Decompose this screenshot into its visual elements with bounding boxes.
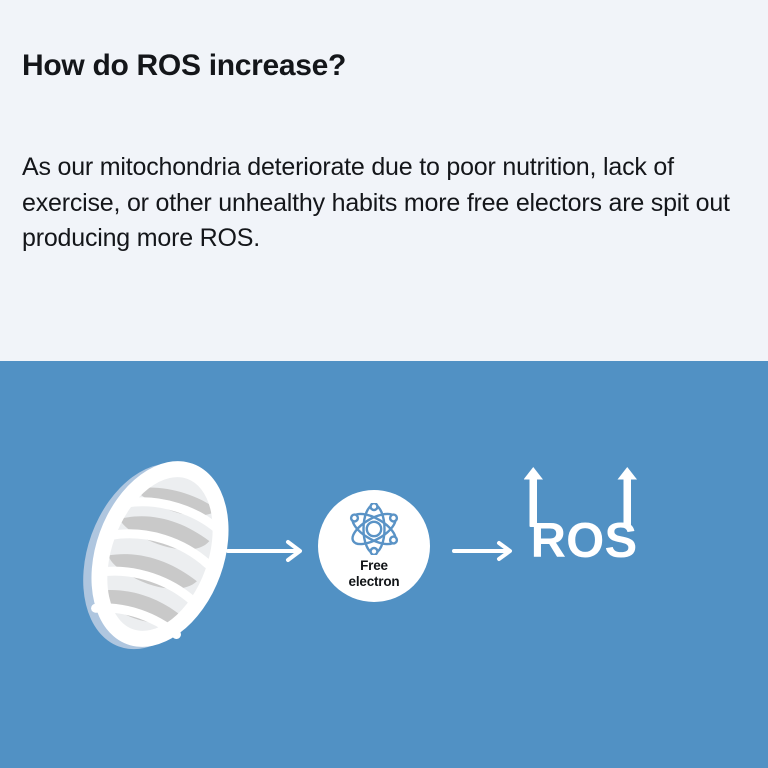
free-electron-label: Free electron [349,558,400,590]
arrow-right-icon [226,539,306,563]
mitochondrion-icon [70,449,250,659]
ros-group: ROS [524,465,644,580]
diagram-panel: Free electron [0,361,768,768]
page-title: How do ROS increase? [22,48,346,84]
atom-icon [345,503,403,555]
free-electron-badge: Free electron [318,490,430,602]
ros-label: ROS [524,517,644,566]
text-panel: How do ROS increase? As our mitochondria… [0,0,768,361]
arrow-right-icon [452,539,516,563]
slide-canvas: How do ROS increase? As our mitochondria… [0,0,768,768]
body-paragraph: As our mitochondria deteriorate due to p… [22,150,748,257]
